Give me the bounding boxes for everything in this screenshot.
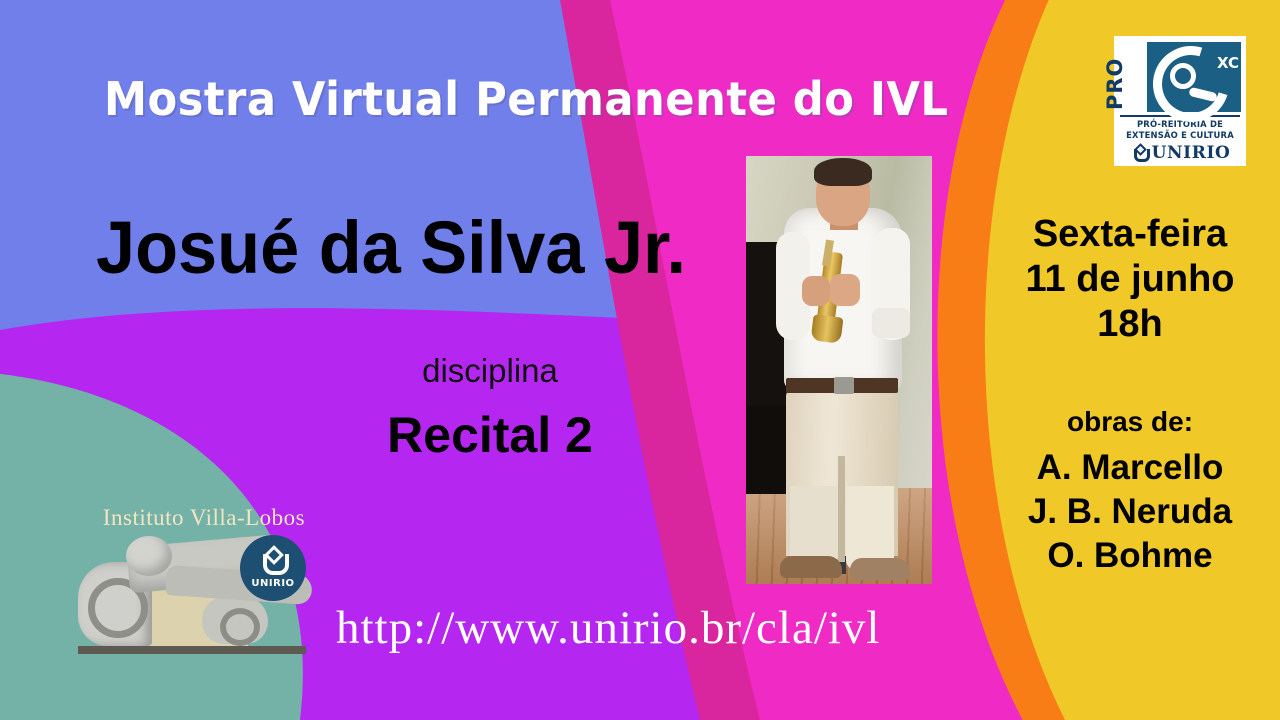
ornament-volute: [202, 596, 268, 644]
event-date: 11 de junho: [985, 257, 1275, 302]
event-poster: Mostra Virtual Permanente do IVL Josué d…: [0, 0, 1280, 720]
unirio-circle-badge: UNIRIO: [240, 535, 306, 601]
composer-item: J. B. Neruda: [985, 490, 1275, 534]
ornament-knob: [126, 536, 172, 576]
composer-item: A. Marcello: [985, 446, 1275, 490]
proexc-unirio-lockup: UNIRIO: [1130, 143, 1231, 163]
photo-hair: [814, 158, 872, 186]
photo-shoe-right: [850, 558, 910, 580]
event-datetime-block: Sexta-feira 11 de junho 18h: [985, 212, 1275, 346]
event-time: 18h: [985, 302, 1275, 347]
works-label: obras de:: [985, 406, 1275, 438]
composers-list: A. Marcello J. B. Neruda O. Bohme: [985, 446, 1275, 577]
proexc-subtitle-line2: EXTENSÃO E CULTURA: [1120, 130, 1240, 141]
photo-shoe-left: [780, 556, 842, 578]
photo-leg-split: [838, 456, 845, 562]
discipline-label: disciplina: [260, 352, 720, 390]
photo-hand-right: [830, 274, 860, 306]
discipline-value: Recital 2: [260, 406, 720, 464]
proexc-spiral-icon: [1153, 46, 1219, 108]
event-weekday: Sexta-feira: [985, 212, 1275, 257]
performer-name: Josué da Silva Jr.: [96, 205, 818, 290]
proexc-logo: PRO XC PRÓ-REITORIA DE EXTENSÃO E CULTUR…: [1114, 36, 1246, 166]
proexc-xc-text: XC: [1217, 54, 1239, 72]
photo-belt-buckle: [834, 377, 854, 394]
instituto-villa-lobos-logo: Instituto Villa-Lobos UNIRIO: [74, 505, 334, 665]
unirio-badge-text: UNIRIO: [251, 578, 294, 589]
unirio-mark-icon: [1130, 145, 1148, 162]
composer-item: O. Bohme: [985, 534, 1275, 578]
trumpet-bell: [811, 314, 844, 343]
page-title: Mostra Virtual Permanente do IVL: [104, 72, 818, 126]
website-url-link[interactable]: http://www.unirio.br/cla/ivl: [336, 601, 881, 655]
spiral-inner-ring: [1170, 63, 1196, 89]
photo-cuff-right: [872, 308, 910, 338]
unirio-wordmark: UNIRIO: [1152, 143, 1231, 163]
unirio-badge-mark-icon: [258, 548, 288, 576]
proexc-emblem: PRO XC: [1119, 40, 1241, 114]
ornament-base: [78, 646, 306, 654]
ivl-title: Instituto Villa-Lobos: [78, 505, 330, 531]
